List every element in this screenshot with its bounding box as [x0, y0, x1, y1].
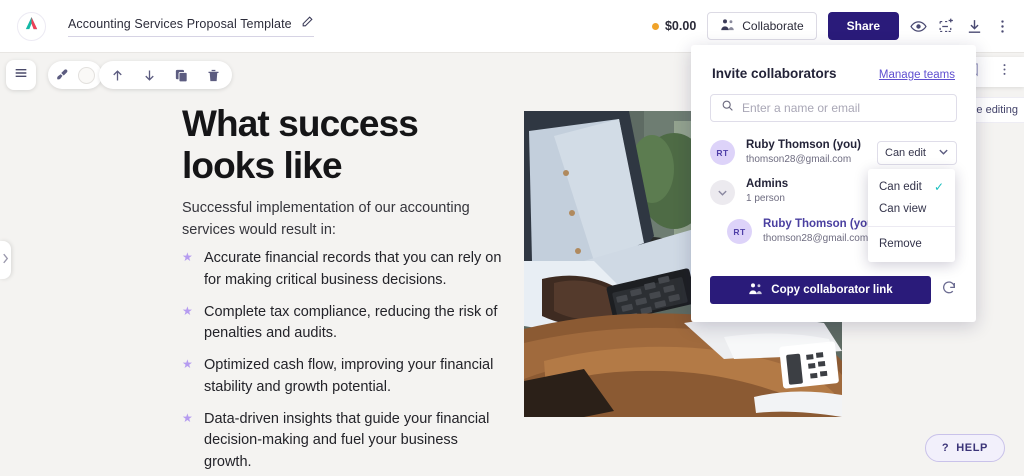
collaborator-email: thomson28@gmail.com [763, 232, 878, 247]
color-swatch[interactable] [78, 67, 95, 84]
collaborator-info: Ruby Thomson (you) thomson28@gmail.com [763, 217, 878, 246]
page-subheading: Successful implementation of our account… [182, 197, 482, 241]
arrow-up-icon[interactable] [110, 68, 125, 83]
document-title-field[interactable]: Accounting Services Proposal Template [68, 15, 314, 37]
download-icon[interactable] [966, 18, 983, 35]
list-item: ★ Accurate financial records that you ca… [182, 248, 507, 292]
chevron-down-icon [938, 146, 949, 160]
permission-option-can-view[interactable]: Can view [868, 198, 955, 220]
eye-icon[interactable] [910, 18, 927, 35]
team-info: Admins 1 person [746, 177, 788, 206]
collaborator-row[interactable]: RT Ruby Thomson (you) thomson28@gmail.co… [691, 133, 976, 172]
collaborator-name: Ruby Thomson (you) [763, 217, 878, 232]
remove-label: Remove [879, 238, 922, 250]
question-mark-icon: ? [942, 442, 949, 454]
team-name: Admins [746, 177, 788, 192]
chevron-right-icon [2, 251, 9, 269]
permission-dropdown-menu: Can edit ✓ Can view Remove [868, 169, 955, 262]
app-root: Accounting Services Proposal Template $0… [0, 0, 1024, 476]
page-title: What success looks like [182, 103, 502, 187]
people-icon [748, 282, 763, 298]
team-member-count: 1 person [746, 192, 788, 207]
list-item: ★ Complete tax compliance, reducing the … [182, 302, 507, 346]
trash-icon[interactable] [206, 68, 221, 83]
help-button[interactable]: ? HELP [925, 434, 1005, 462]
permission-value: Can edit [885, 147, 926, 159]
star-bullet-icon: ★ [182, 412, 193, 424]
refresh-icon[interactable] [941, 280, 957, 301]
list-item-text: Optimized cash flow, improving your fina… [204, 357, 493, 395]
more-vertical-icon[interactable] [997, 62, 1012, 82]
arrow-down-icon[interactable] [142, 68, 157, 83]
copy-collaborator-link-button[interactable]: Copy collaborator link [710, 276, 931, 304]
list-item-text: Data-driven insights that guide your fin… [204, 411, 489, 471]
insert-element-icon[interactable] [938, 18, 955, 35]
collaborator-search-box[interactable] [710, 94, 957, 122]
pencil-icon[interactable] [301, 15, 314, 33]
more-vertical-icon[interactable] [994, 18, 1011, 35]
star-bullet-icon: ★ [182, 251, 193, 263]
help-label: HELP [956, 442, 988, 454]
manage-teams-link[interactable]: Manage teams [879, 69, 955, 81]
panel-title: Invite collaborators [712, 66, 837, 81]
left-drawer-toggle[interactable] [0, 241, 11, 279]
paint-brush-icon[interactable] [55, 68, 70, 83]
avatar: RT [710, 140, 735, 165]
invite-collaborators-panel: Invite collaborators Manage teams RT Rub… [691, 45, 976, 322]
app-logo-button[interactable] [17, 12, 46, 41]
collaborator-info: Ruby Thomson (you) thomson28@gmail.com [746, 138, 861, 167]
permission-option-can-edit[interactable]: Can edit ✓ [868, 176, 955, 198]
expand-team-icon[interactable] [710, 180, 735, 205]
copy-link-label: Copy collaborator link [771, 284, 892, 296]
collaborator-name: Ruby Thomson (you) [746, 138, 861, 153]
collaborator-email: thomson28@gmail.com [746, 153, 861, 168]
list-item-text: Accurate financial records that you can … [204, 250, 501, 288]
people-icon [720, 18, 735, 34]
check-icon: ✓ [934, 180, 944, 194]
header-actions: $0.00 Collaborate Share [652, 12, 1024, 40]
price-value: $0.00 [665, 19, 696, 33]
list-item: ★ Data-driven insights that guide your f… [182, 409, 507, 474]
collaborate-button[interactable]: Collaborate [707, 12, 816, 40]
benefits-list: ★ Accurate financial records that you ca… [182, 248, 507, 476]
panel-header: Invite collaborators Manage teams [691, 45, 976, 81]
app-logo-icon [23, 15, 40, 37]
search-input[interactable] [742, 101, 946, 115]
duplicate-icon[interactable] [174, 68, 189, 83]
menu-divider [868, 226, 955, 227]
list-item: ★ Optimized cash flow, improving your fi… [182, 355, 507, 399]
permission-select[interactable]: Can edit [877, 141, 957, 165]
price-indicator[interactable]: $0.00 [652, 19, 696, 33]
collaborate-label: Collaborate [742, 19, 803, 33]
share-button[interactable]: Share [828, 12, 899, 40]
element-actions-toolbar [99, 61, 232, 89]
star-bullet-icon: ★ [182, 305, 193, 317]
style-toolbar [48, 61, 102, 89]
hamburger-menu-icon [13, 65, 29, 86]
canvas-menu-button[interactable] [6, 60, 36, 90]
list-item-text: Complete tax compliance, reducing the ri… [204, 304, 497, 342]
permission-option-remove[interactable]: Remove [868, 233, 955, 255]
price-status-dot [652, 23, 659, 30]
search-icon [721, 99, 734, 117]
permission-option-label: Can edit [879, 181, 922, 193]
permission-option-label: Can view [879, 203, 926, 215]
document-title: Accounting Services Proposal Template [68, 17, 292, 31]
panel-footer: Copy collaborator link [691, 276, 976, 304]
avatar: RT [727, 219, 752, 244]
star-bullet-icon: ★ [182, 358, 193, 370]
